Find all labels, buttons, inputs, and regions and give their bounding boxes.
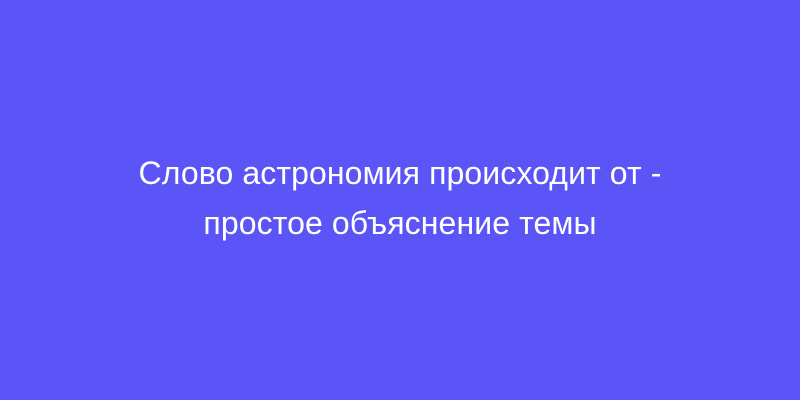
title-card: Слово астрономия происходит от - простое… [0,0,800,400]
page-title: Слово астрономия происходит от - простое… [80,148,720,248]
